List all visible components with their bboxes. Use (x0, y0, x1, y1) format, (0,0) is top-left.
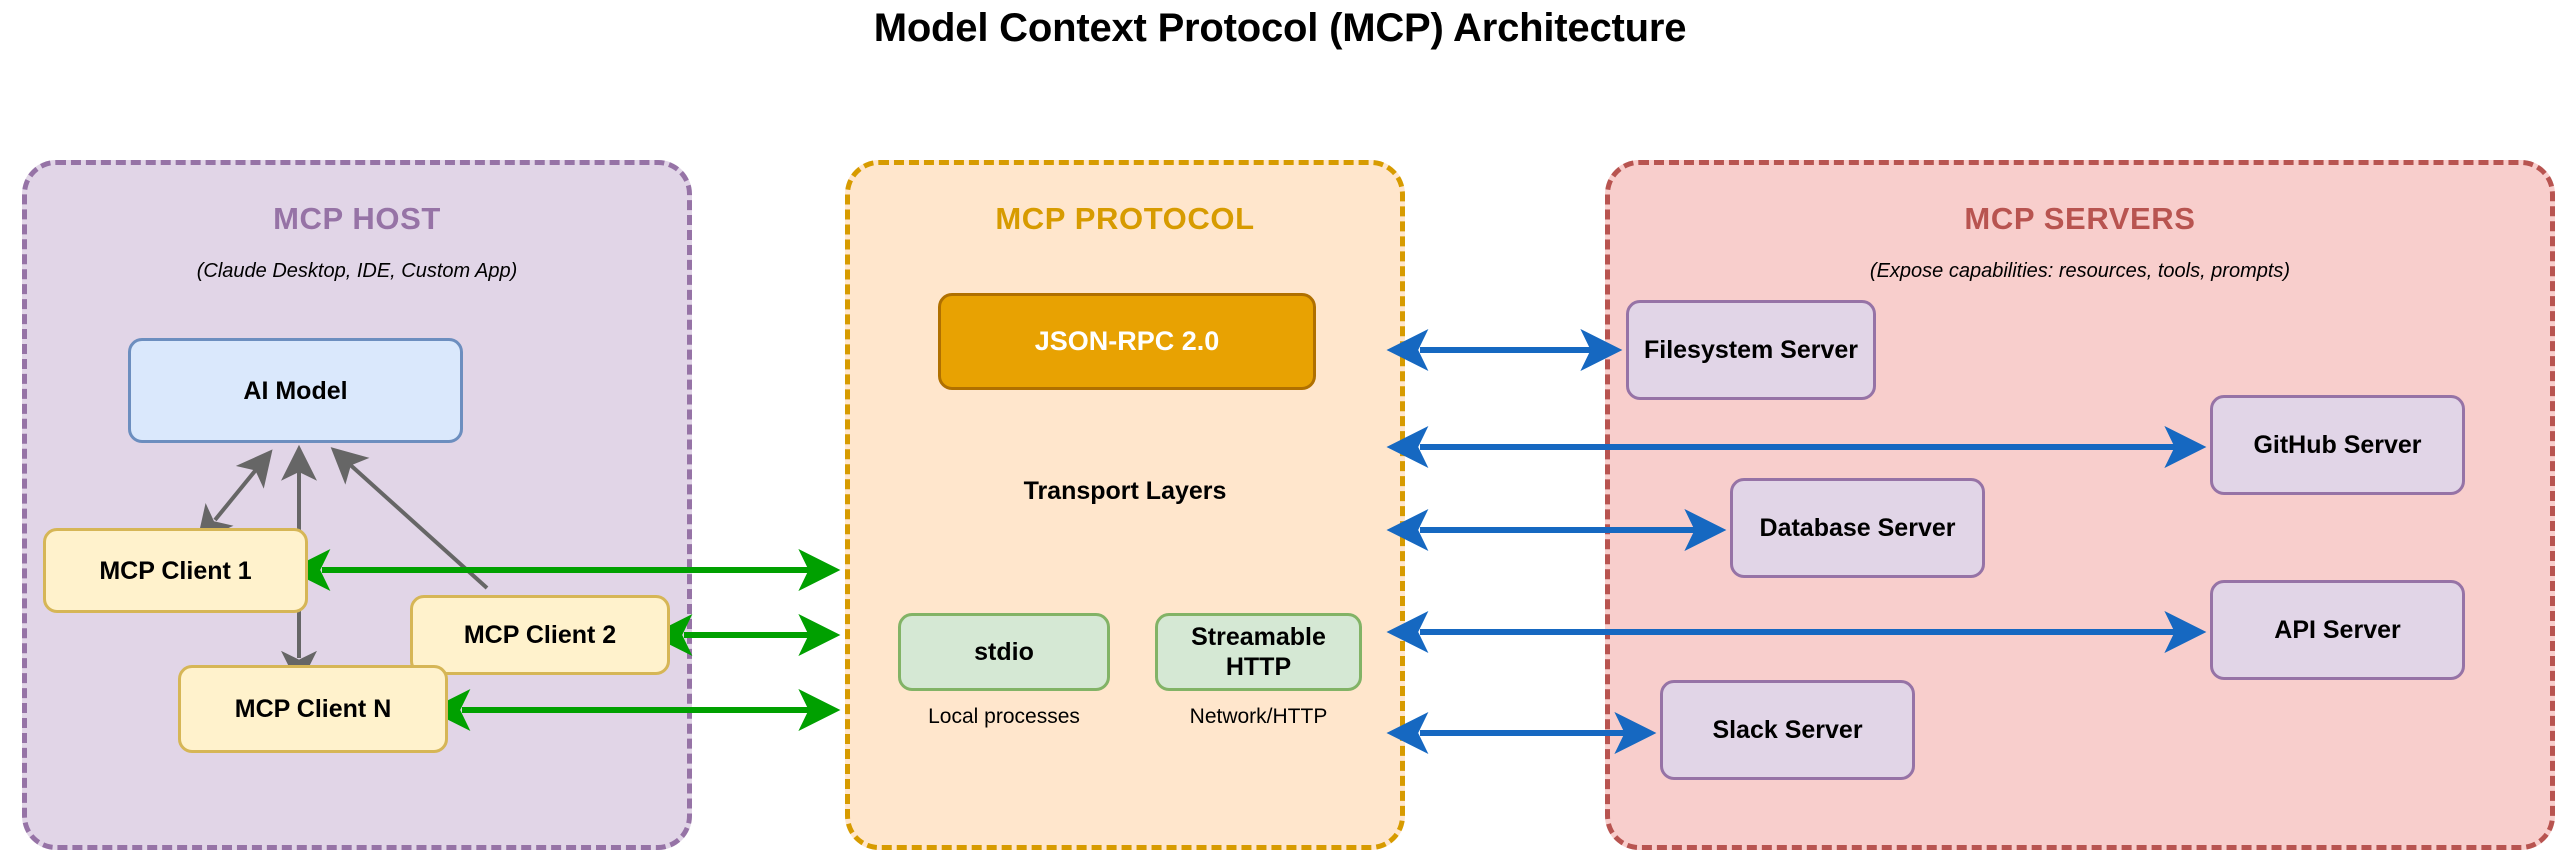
stdio-transport-node[interactable]: stdio (898, 613, 1110, 691)
mcp-client-1-node[interactable]: MCP Client 1 (43, 528, 308, 613)
mcp-host-title: MCP HOST (27, 201, 687, 237)
github-server-node[interactable]: GitHub Server (2210, 395, 2465, 495)
stdio-caption: Local processes (898, 705, 1110, 729)
ai-model-node[interactable]: AI Model (128, 338, 463, 443)
mcp-host-subtitle: (Claude Desktop, IDE, Custom App) (27, 260, 687, 283)
api-server-node[interactable]: API Server (2210, 580, 2465, 680)
mcp-servers-title: MCP SERVERS (1610, 201, 2550, 237)
filesystem-server-node[interactable]: Filesystem Server (1626, 300, 1876, 400)
mcp-protocol-title: MCP PROTOCOL (850, 201, 1400, 237)
mcp-client-2-node[interactable]: MCP Client 2 (410, 595, 670, 675)
streamable-http-caption: Network/HTTP (1155, 705, 1362, 729)
page-title: Model Context Protocol (MCP) Architectur… (0, 6, 2560, 51)
mcp-servers-subtitle: (Expose capabilities: resources, tools, … (1610, 260, 2550, 283)
database-server-node[interactable]: Database Server (1730, 478, 1985, 578)
mcp-client-n-node[interactable]: MCP Client N (178, 665, 448, 753)
streamable-http-transport-node[interactable]: Streamable HTTP (1155, 613, 1362, 691)
slack-server-node[interactable]: Slack Server (1660, 680, 1915, 780)
transport-layers-label: Transport Layers (845, 477, 1405, 506)
json-rpc-node[interactable]: JSON-RPC 2.0 (938, 293, 1316, 390)
